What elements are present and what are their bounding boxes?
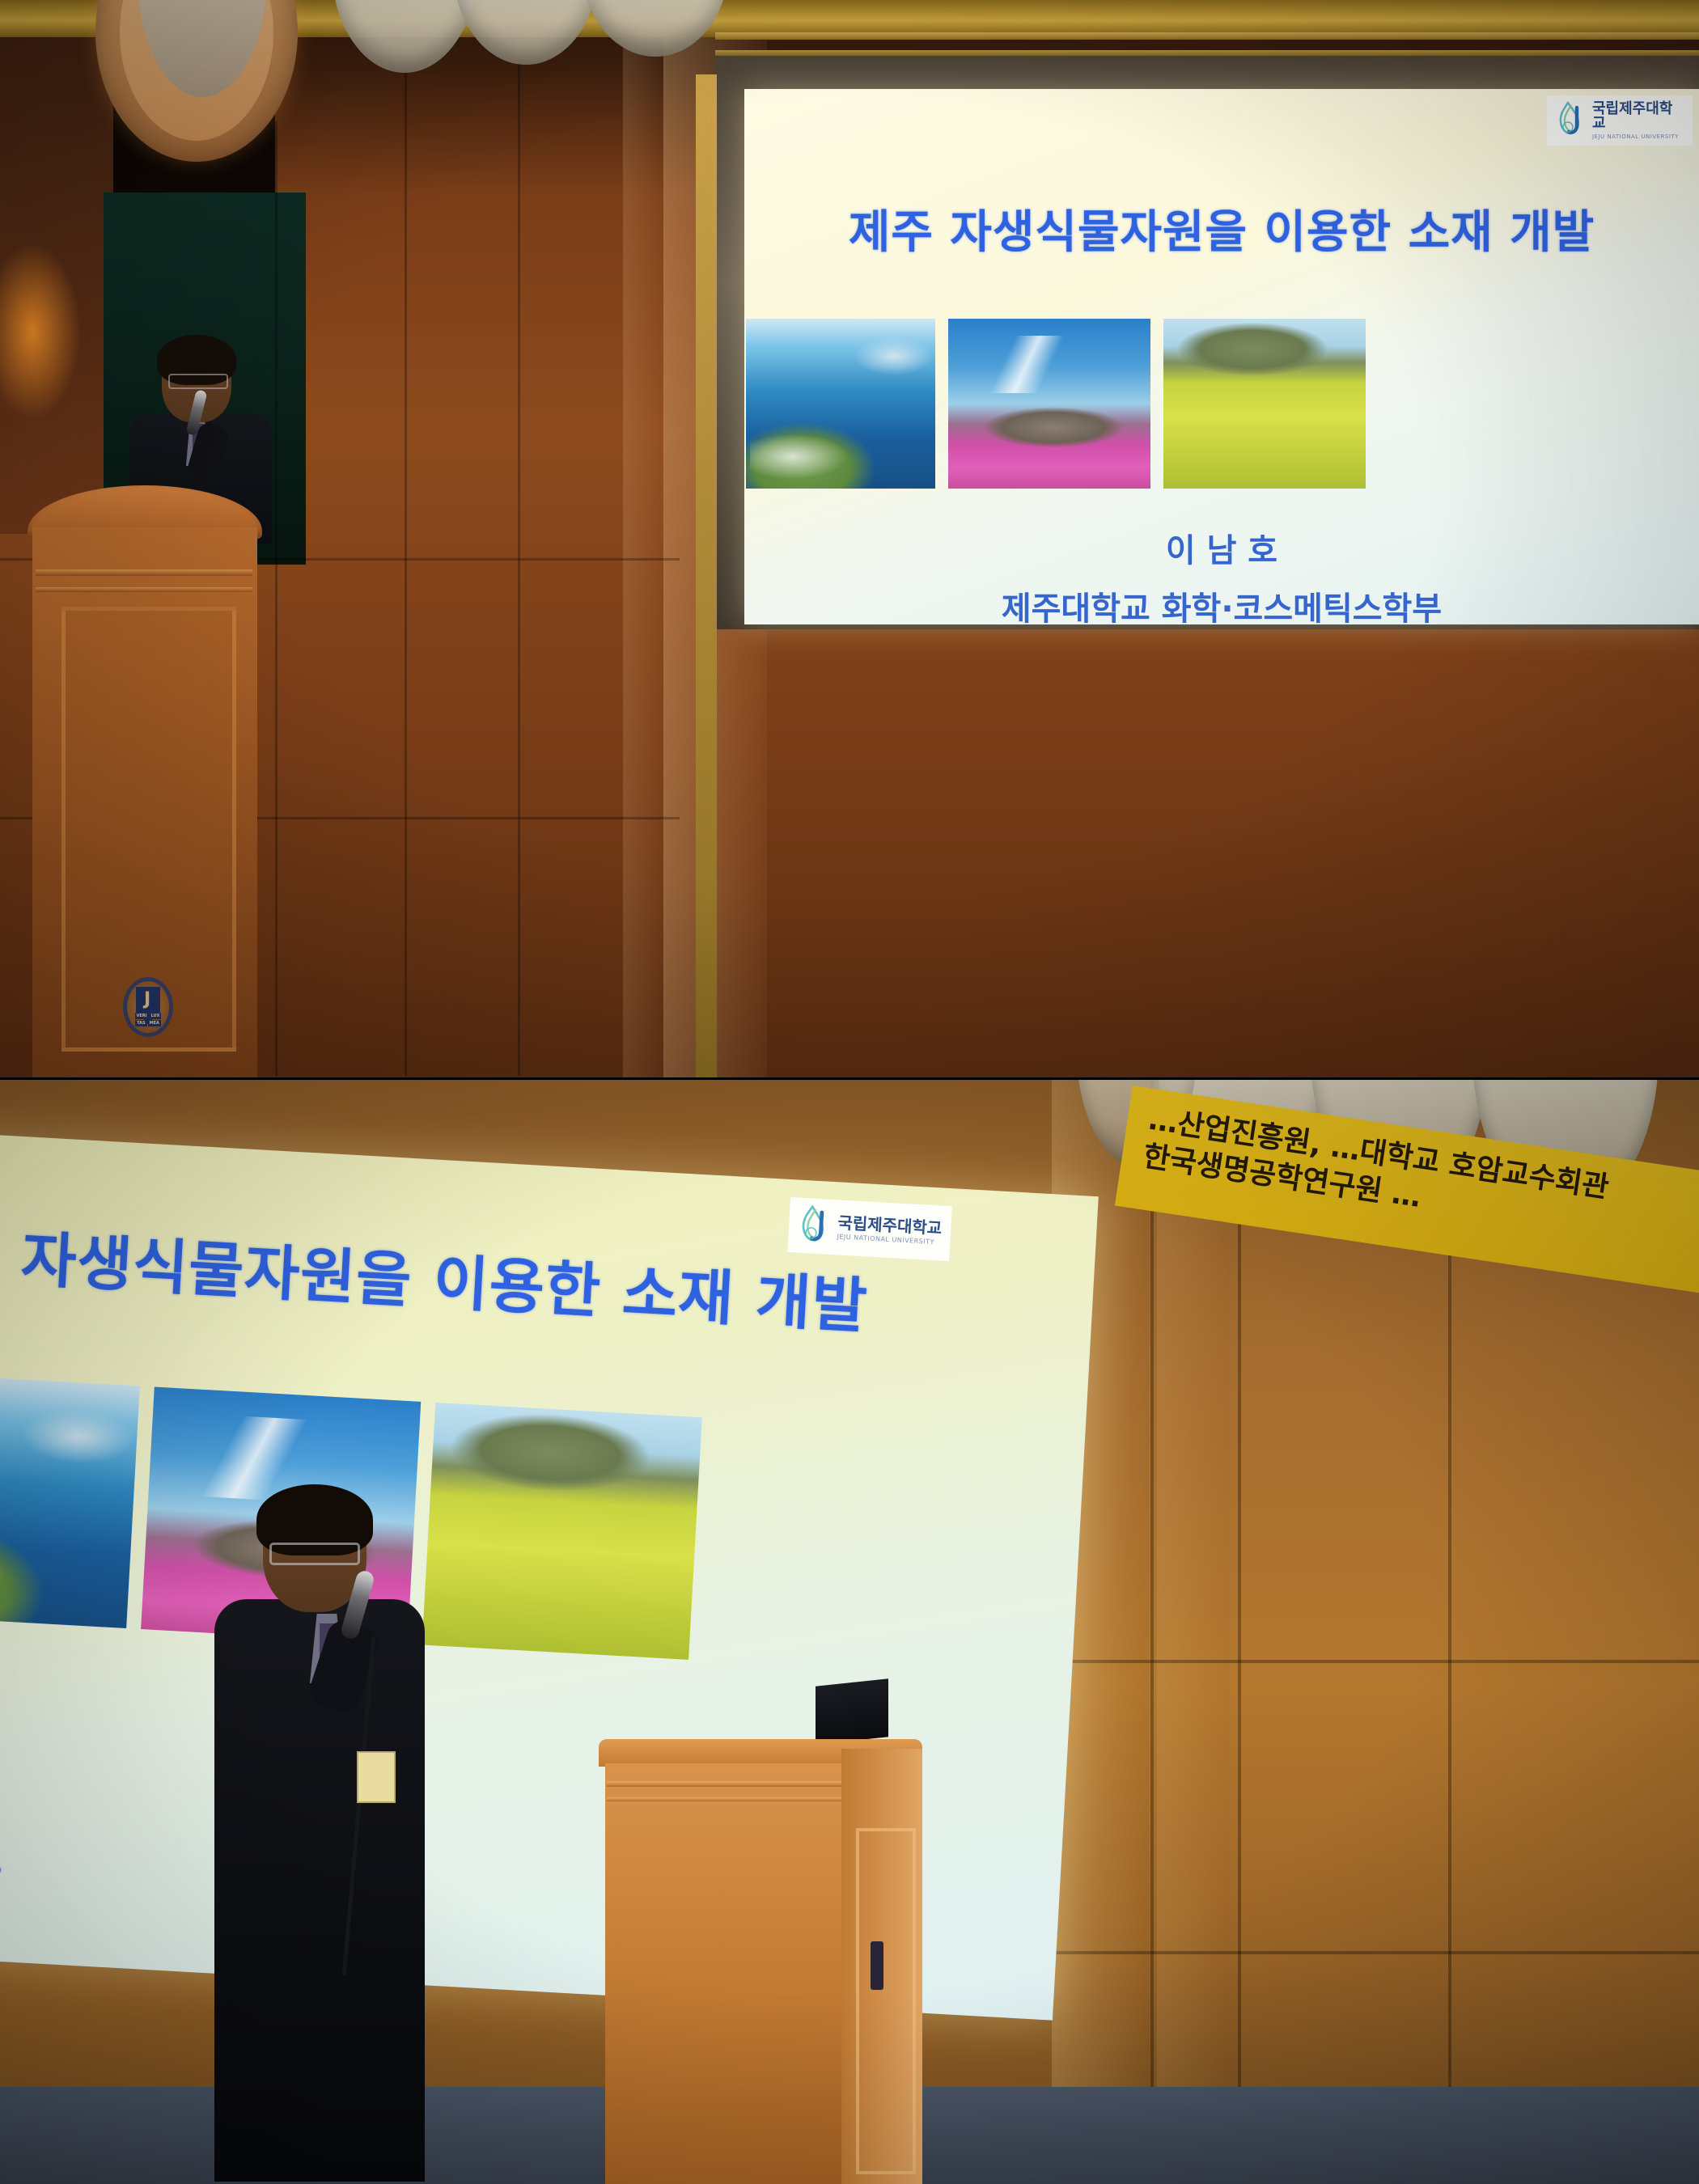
panel-divider xyxy=(0,1077,1699,1080)
jeju-flame-j-logo-icon xyxy=(1555,100,1586,141)
presentation-slide: 국립제주대학교 JEJU NATIONAL UNIVERSITY 제주 자생식물… xyxy=(744,89,1699,624)
wall-seam xyxy=(1052,1660,1699,1663)
presentation-slide: 국립제주대학교 JEJU NATIONAL UNIVERSITY 제주 자생식물… xyxy=(0,1132,1099,2021)
bottom-panel-photo: 국립제주대학교 JEJU NATIONAL UNIVERSITY 제주 자생식물… xyxy=(0,1077,1699,2184)
aerial-coastal-island-photo xyxy=(0,1371,140,1628)
wall-seam xyxy=(518,49,520,1076)
aerial-coastal-island-photo xyxy=(746,319,935,489)
light-wood-lectern xyxy=(599,1739,922,2184)
slide-title: 제주 자생식물자원을 이용한 소재 개발 xyxy=(744,196,1699,261)
wooden-lectern: J VERI LUX TAS MEA xyxy=(28,485,262,1077)
wall-seam xyxy=(1150,1077,1154,2184)
jeju-national-university-logo: 국립제주대학교 JEJU NATIONAL UNIVERSITY xyxy=(1547,95,1693,146)
hallasan-azalea-photo xyxy=(948,319,1150,489)
logo-wordmark: 국립제주대학교 JEJU NATIONAL UNIVERSITY xyxy=(837,1214,942,1246)
logo-english-text: JEJU NATIONAL UNIVERSITY xyxy=(1592,134,1684,140)
emblem-motto: VERI LUX TAS MEA xyxy=(131,1013,165,1026)
stage-light-glow xyxy=(0,243,81,421)
presenter-name: 이 남 호 xyxy=(744,524,1699,571)
presenter-standing xyxy=(214,1492,425,2184)
wall-seam xyxy=(1238,1077,1241,2184)
emblem-motto-tas: TAS xyxy=(135,1020,147,1026)
canola-field-photo xyxy=(422,1403,702,1660)
emblem-motto-mea: MEA xyxy=(148,1020,161,1026)
slide-photo-strip xyxy=(744,319,1699,489)
conference-name-badge xyxy=(357,1751,396,1803)
screen-gold-trim xyxy=(715,50,1699,56)
wall-seam xyxy=(275,121,278,1076)
lectern-ridge xyxy=(36,587,252,592)
presenter-laptop xyxy=(816,1678,888,1744)
jeju-flame-j-logo-icon xyxy=(796,1204,833,1249)
emblem-letter: J xyxy=(144,989,150,1009)
speaker-glasses xyxy=(269,1543,360,1565)
seoul-national-university-emblem: J VERI LUX TAS MEA xyxy=(123,977,173,1037)
emblem-motto-veri: VERI xyxy=(135,1013,149,1019)
wall-seam xyxy=(1052,1951,1699,1954)
logo-wordmark: 국립제주대학교 JEJU NATIONAL UNIVERSITY xyxy=(1592,102,1684,140)
canola-field-photo xyxy=(1163,319,1366,489)
emblem-motto-lux: LUX xyxy=(150,1013,162,1019)
wall-light-column-2 xyxy=(1157,1077,1230,2184)
speaker-glasses xyxy=(168,374,228,389)
logo-korean-text: 국립제주대학교 xyxy=(1592,102,1684,131)
presenter-affiliation: 제주대학교 화학·코스메틱스학부 xyxy=(744,582,1699,624)
top-panel-photo: 국립제주대학교 JEJU NATIONAL UNIVERSITY 제주 자생식물… xyxy=(0,0,1699,1077)
lectern-handle xyxy=(871,1941,883,1990)
jeju-national-university-logo: 국립제주대학교 JEJU NATIONAL UNIVERSITY xyxy=(787,1197,951,1261)
wall-light-column-2 xyxy=(623,0,665,1077)
wall-seam xyxy=(405,49,407,1076)
screenshot-canvas: 국립제주대학교 JEJU NATIONAL UNIVERSITY 제주 자생식물… xyxy=(0,0,1699,2184)
lectern-side-inset xyxy=(856,1828,916,2174)
screen-gold-trim-vertical xyxy=(696,74,717,1077)
lectern-ridge xyxy=(36,569,252,576)
screen-gold-trim xyxy=(715,32,1699,40)
